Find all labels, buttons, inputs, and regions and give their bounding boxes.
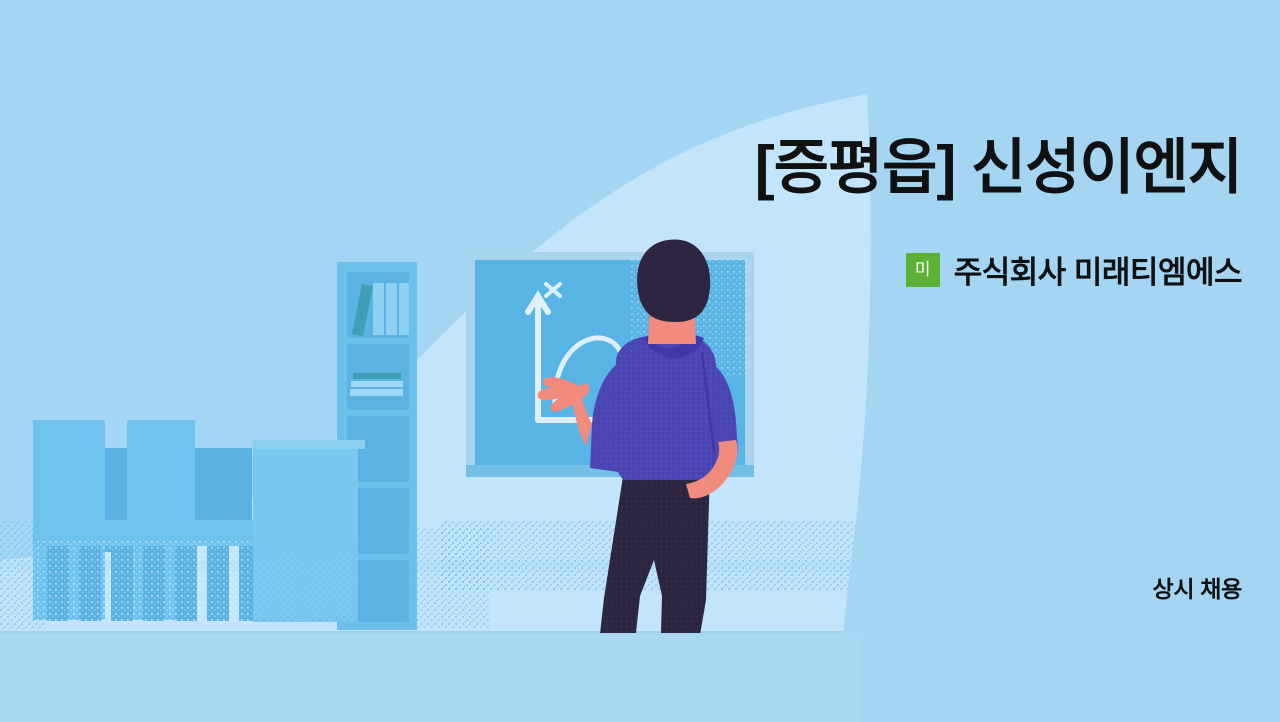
book-3 [399, 283, 409, 335]
floor-bottom-fill [0, 633, 860, 722]
cabinet-grain [253, 540, 358, 622]
book-stack-1 [353, 373, 401, 379]
page-title: [증평읍] 신성이엔지 [162, 133, 1242, 202]
desk-grain [33, 540, 263, 622]
desk-and-chairs [0, 420, 263, 630]
company-name: 주식회사 미래티엠에스 [954, 247, 1242, 292]
side-cabinet [253, 440, 365, 622]
book-stack-3 [350, 389, 403, 396]
status-badge: 상시 채용 [1152, 570, 1242, 604]
cabinet-top [253, 440, 365, 449]
company-logo-badge: 미 [906, 253, 940, 287]
job-posting-card: [증평읍] 신성이엔지 미 주식회사 미래티엠에스 상시 채용 [0, 0, 1280, 722]
book-2 [386, 283, 397, 335]
illustration-edge-mask [836, 0, 1280, 722]
book-1 [373, 283, 384, 335]
book-stack-2 [351, 381, 403, 387]
hair [637, 240, 710, 322]
left-grain [0, 520, 45, 630]
office-illustration [0, 0, 1280, 722]
company-row[interactable]: 미 주식회사 미래티엠에스 [906, 247, 1242, 292]
